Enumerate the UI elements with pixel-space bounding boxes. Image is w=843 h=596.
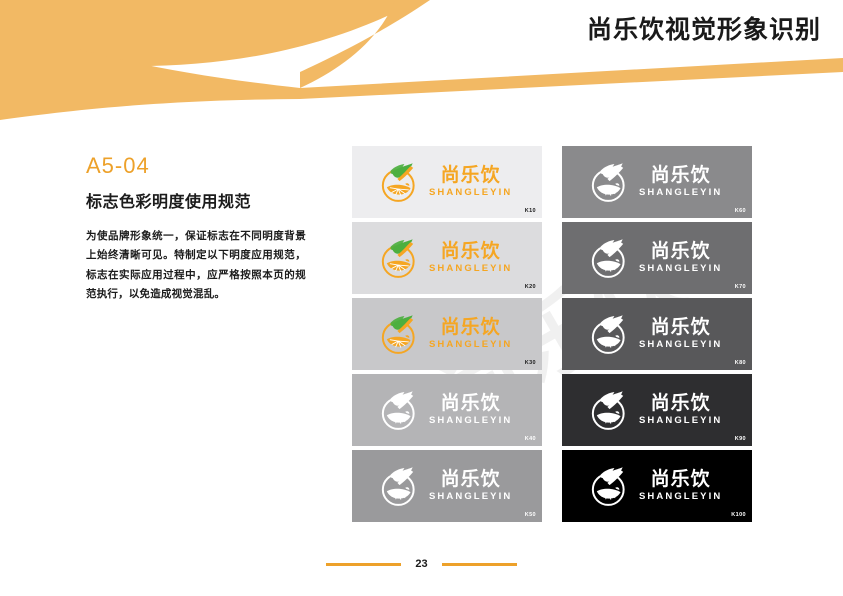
footer-rule-right: [442, 563, 517, 566]
logo-wordmark: 尚乐饮SHANGLEYIN: [429, 242, 512, 274]
logo-wordmark-en: SHANGLEYIN: [639, 264, 722, 274]
section-body-copy: 为使品牌形象统一，保证标志在不同明度背景上始终清晰可见。特制定以下明度应用规范，…: [86, 227, 306, 305]
logo-lockup: 尚乐饮SHANGLEYIN: [562, 236, 722, 280]
page-number: 23: [415, 559, 427, 570]
logo-lockup: 尚乐饮SHANGLEYIN: [562, 312, 722, 356]
logo-wordmark-en: SHANGLEYIN: [429, 340, 512, 350]
logo-wordmark: 尚乐饮SHANGLEYIN: [429, 394, 512, 426]
orange-fruit-straw-icon: [378, 388, 422, 432]
swatch-column-left: 尚乐饮SHANGLEYINK10 尚乐饮SHANGLEYINK20: [352, 146, 542, 526]
section-subtitle: 标志色彩明度使用规范: [86, 195, 306, 211]
logo-wordmark-cn: 尚乐饮: [441, 394, 501, 413]
logo-wordmark-cn: 尚乐饮: [651, 242, 711, 261]
swatch-k-label: K30: [525, 361, 536, 367]
orange-fruit-straw-icon: [378, 464, 422, 508]
logo-wordmark: 尚乐饮SHANGLEYIN: [639, 394, 722, 426]
logo-wordmark-en: SHANGLEYIN: [429, 188, 512, 198]
logo-swatch: 尚乐饮SHANGLEYINK30: [352, 298, 542, 370]
logo-lockup: 尚乐饮SHANGLEYIN: [562, 160, 722, 204]
orange-fruit-straw-icon: [588, 464, 632, 508]
logo-lockup: 尚乐饮SHANGLEYIN: [352, 464, 512, 508]
swatch-column-right: 尚乐饮SHANGLEYINK60 尚乐饮SHANGLEYINK70: [562, 146, 752, 526]
logo-wordmark: 尚乐饮SHANGLEYIN: [639, 242, 722, 274]
logo-lockup: 尚乐饮SHANGLEYIN: [352, 388, 512, 432]
orange-fruit-straw-icon: [588, 160, 632, 204]
logo-wordmark-cn: 尚乐饮: [651, 166, 711, 185]
swatch-k-label: K80: [735, 361, 746, 367]
logo-wordmark-cn: 尚乐饮: [441, 318, 501, 337]
swatch-k-label: K40: [525, 437, 536, 443]
logo-swatch: 尚乐饮SHANGLEYINK90: [562, 374, 752, 446]
swatch-k-label: K100: [731, 513, 746, 519]
footer-rule-left: [326, 563, 401, 566]
logo-lockup: 尚乐饮SHANGLEYIN: [352, 236, 512, 280]
left-text-column: A5-04 标志色彩明度使用规范 为使品牌形象统一，保证标志在不同明度背景上始终…: [86, 155, 306, 305]
swatch-k-label: K60: [735, 209, 746, 215]
logo-wordmark-en: SHANGLEYIN: [429, 264, 512, 274]
orange-fruit-straw-icon: [378, 236, 422, 280]
logo-wordmark-cn: 尚乐饮: [441, 242, 501, 261]
logo-wordmark-cn: 尚乐饮: [441, 166, 501, 185]
swatch-k-label: K50: [525, 513, 536, 519]
logo-lockup: 尚乐饮SHANGLEYIN: [352, 160, 512, 204]
logo-lockup: 尚乐饮SHANGLEYIN: [352, 312, 512, 356]
logo-swatch: 尚乐饮SHANGLEYINK40: [352, 374, 542, 446]
swatch-k-label: K20: [525, 285, 536, 291]
logo-wordmark-en: SHANGLEYIN: [639, 416, 722, 426]
logo-wordmark: 尚乐饮SHANGLEYIN: [639, 470, 722, 502]
logo-swatch: 尚乐饮SHANGLEYINK100: [562, 450, 752, 522]
logo-wordmark-cn: 尚乐饮: [651, 394, 711, 413]
logo-wordmark-cn: 尚乐饮: [651, 470, 711, 489]
logo-swatch: 尚乐饮SHANGLEYINK70: [562, 222, 752, 294]
logo-swatch: 尚乐饮SHANGLEYINK20: [352, 222, 542, 294]
logo-wordmark-en: SHANGLEYIN: [639, 188, 722, 198]
logo-swatch: 尚乐饮SHANGLEYINK60: [562, 146, 752, 218]
logo-wordmark-en: SHANGLEYIN: [639, 492, 722, 502]
logo-lockup: 尚乐饮SHANGLEYIN: [562, 464, 722, 508]
logo-wordmark-en: SHANGLEYIN: [639, 340, 722, 350]
logo-lockup: 尚乐饮SHANGLEYIN: [562, 388, 722, 432]
orange-fruit-straw-icon: [588, 312, 632, 356]
page-title: 尚乐饮视觉形象识别: [587, 18, 821, 43]
logo-wordmark-en: SHANGLEYIN: [429, 416, 512, 426]
orange-fruit-straw-icon: [588, 388, 632, 432]
page-root: 尚乐饮视觉形象识别 尚乐饮 A5-04 标志色彩明度使用规范 为使品牌形象统一，…: [0, 0, 843, 596]
logo-wordmark: 尚乐饮SHANGLEYIN: [639, 166, 722, 198]
orange-fruit-straw-icon: [378, 312, 422, 356]
swatch-k-label: K90: [735, 437, 746, 443]
logo-wordmark: 尚乐饮SHANGLEYIN: [639, 318, 722, 350]
logo-wordmark-cn: 尚乐饮: [441, 470, 501, 489]
section-code: A5-04: [86, 155, 306, 177]
swatch-k-label: K70: [735, 285, 746, 291]
swatch-k-label: K10: [525, 209, 536, 215]
logo-wordmark-en: SHANGLEYIN: [429, 492, 512, 502]
logo-swatch: 尚乐饮SHANGLEYINK10: [352, 146, 542, 218]
logo-wordmark: 尚乐饮SHANGLEYIN: [429, 470, 512, 502]
orange-fruit-straw-icon: [588, 236, 632, 280]
logo-wordmark: 尚乐饮SHANGLEYIN: [429, 318, 512, 350]
orange-fruit-straw-icon: [378, 160, 422, 204]
logo-wordmark: 尚乐饮SHANGLEYIN: [429, 166, 512, 198]
logo-swatch: 尚乐饮SHANGLEYINK80: [562, 298, 752, 370]
logo-swatch: 尚乐饮SHANGLEYINK50: [352, 450, 542, 522]
logo-wordmark-cn: 尚乐饮: [651, 318, 711, 337]
footer: 23: [0, 556, 843, 572]
